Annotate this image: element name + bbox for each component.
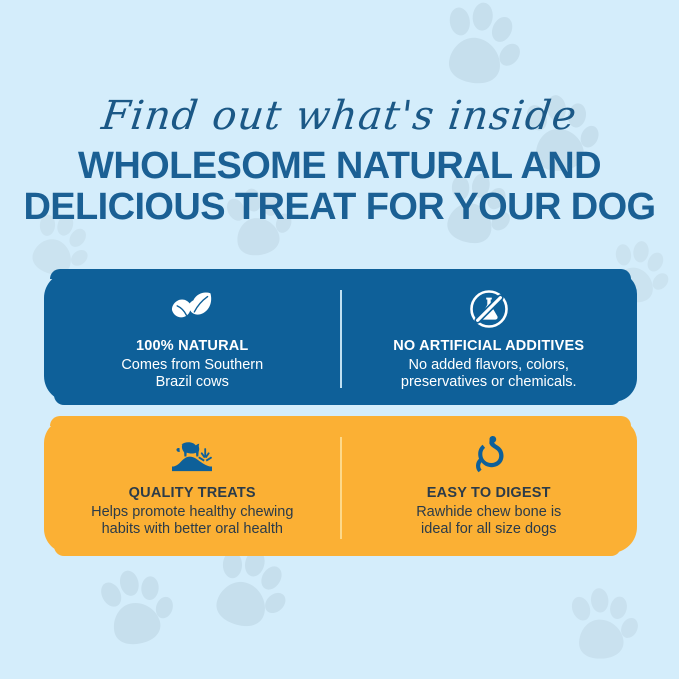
feature-cell-natural: 100% NATURAL Comes from Southern Brazil … <box>44 272 341 402</box>
headline-main-line-1: WHOLESOME NATURAL AND <box>0 146 679 187</box>
feature-body: Helps promote healthy chewing habits wit… <box>91 504 293 539</box>
feature-body-line-1: Rawhide chew bone is <box>416 504 561 520</box>
cow-pasture-icon <box>166 435 218 477</box>
feature-body-line-2: Brazil cows <box>156 374 229 390</box>
feature-cell-no-additives: NO ARTIFICIAL ADDITIVES No added flavors… <box>341 272 638 402</box>
feature-body: Comes from Southern Brazil cows <box>121 357 263 392</box>
feature-title: NO ARTIFICIAL ADDITIVES <box>393 338 584 355</box>
feature-body-line-1: No added flavors, colors, <box>409 357 569 373</box>
panel-divider <box>340 437 342 539</box>
feature-body-line-2: habits with better oral health <box>102 521 283 537</box>
feature-body-line-2: ideal for all size dogs <box>421 521 556 537</box>
feature-panel-yellow: QUALITY TREATS Helps promote healthy che… <box>44 419 637 553</box>
feature-panel-blue: 100% NATURAL Comes from Southern Brazil … <box>44 272 637 402</box>
feature-body-line-2: preservatives or chemicals. <box>401 374 577 390</box>
feature-cell-quality-treats: QUALITY TREATS Helps promote healthy che… <box>44 419 341 553</box>
stomach-icon <box>469 435 509 477</box>
headline-script-line: Find out what's inside <box>0 96 679 136</box>
feature-body-line-1: Comes from Southern <box>121 357 263 373</box>
feature-cell-easy-to-digest: EASY TO DIGEST Rawhide chew bone is idea… <box>341 419 638 553</box>
feature-body: No added flavors, colors, preservatives … <box>401 357 577 392</box>
feature-body-line-1: Helps promote healthy chewing <box>91 504 293 520</box>
leaves-icon <box>169 288 215 330</box>
feature-title: EASY TO DIGEST <box>427 485 551 502</box>
headline-block: Find out what's inside WHOLESOME NATURAL… <box>0 96 679 228</box>
paw-print-icon <box>84 562 184 666</box>
feature-title: 100% NATURAL <box>136 338 249 355</box>
paw-print-icon <box>557 585 643 674</box>
headline-main-line-2: DELICIOUS TREAT FOR YOUR DOG <box>0 187 679 228</box>
feature-title: QUALITY TREATS <box>129 485 256 502</box>
infographic-canvas: Find out what's inside WHOLESOME NATURAL… <box>0 0 679 679</box>
panel-divider <box>340 290 342 388</box>
no-flask-icon <box>468 288 510 330</box>
paw-print-icon <box>424 0 528 104</box>
feature-body: Rawhide chew bone is ideal for all size … <box>416 504 561 539</box>
